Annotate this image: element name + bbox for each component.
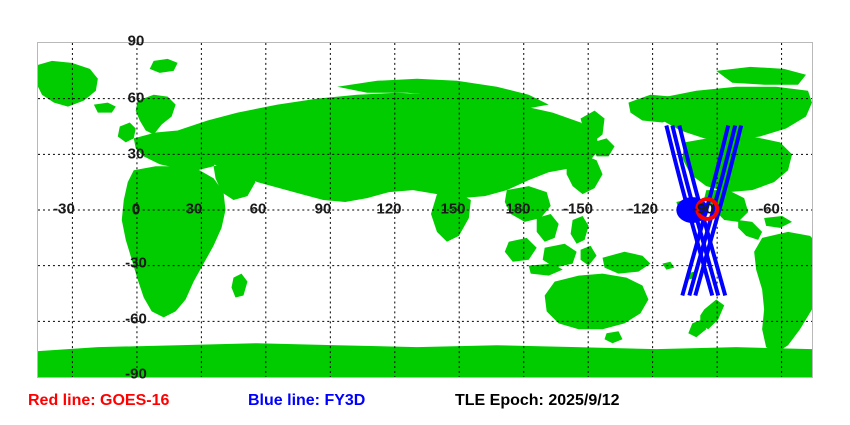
lat-tick-neg30: -30 <box>125 256 147 271</box>
lon-tick-120: 120 <box>376 202 401 217</box>
lat-tick-neg90: -90 <box>125 367 147 382</box>
satellite-ground-track-map: 90 60 30 0 -30 -60 -90 -30 0 30 60 90 12… <box>0 0 850 425</box>
lon-tick-30: 30 <box>186 202 203 217</box>
lon-tick-neg60: -60 <box>758 202 780 217</box>
lon-tick-neg90: -90 <box>692 202 714 217</box>
lat-tick-neg60: -60 <box>125 312 147 327</box>
lon-tick-150: 150 <box>440 202 465 217</box>
lon-tick-neg120: -120 <box>628 202 658 217</box>
legend-bar: Red line: GOES-16 Blue line: FY3D TLE Ep… <box>0 392 850 425</box>
legend-red-line-goes16: Red line: GOES-16 <box>28 392 169 410</box>
legend-tle-epoch: TLE Epoch: 2025/9/12 <box>455 392 620 410</box>
lon-tick-neg30: -30 <box>53 202 75 217</box>
lat-tick-90: 90 <box>128 34 145 49</box>
lon-tick-neg150: -150 <box>563 202 593 217</box>
lat-tick-30: 30 <box>128 147 145 162</box>
antarctica-land <box>38 343 812 377</box>
legend-blue-line-fy3d: Blue line: FY3D <box>248 392 365 410</box>
lon-tick-60: 60 <box>250 202 267 217</box>
lon-tick-0: 0 <box>132 202 140 217</box>
lon-tick-180: 180 <box>505 202 530 217</box>
lat-tick-60: 60 <box>128 91 145 106</box>
lon-tick-90: 90 <box>315 202 332 217</box>
